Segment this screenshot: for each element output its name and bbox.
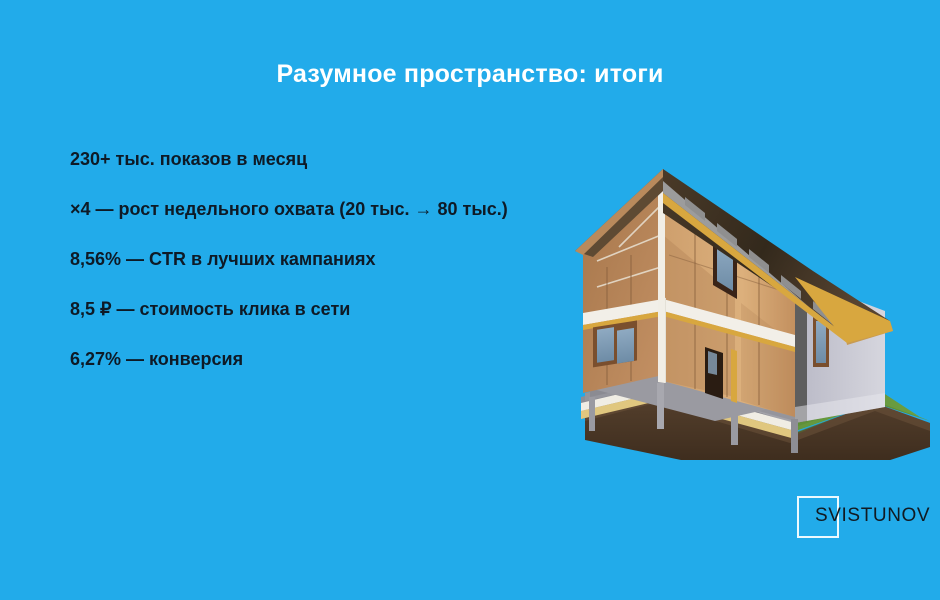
logo-text: SVISTUNOV (815, 505, 930, 527)
side-window-glass (816, 321, 826, 363)
front-left-window-glass-b (617, 328, 634, 364)
front-door-glass (708, 351, 717, 375)
stats-list: 230+ тыс. показов в месяц ×4 — рост неде… (70, 148, 590, 370)
stat-line-impressions: 230+ тыс. показов в месяц (70, 148, 590, 170)
house-illustration (545, 135, 940, 460)
brand-logo: SVISTUNOV (797, 496, 917, 542)
front-left-window-glass-a (597, 327, 614, 363)
stat-line-cpc: 8,5 ₽ — стоимость клика в сети (70, 298, 590, 320)
slide-root: Разумное пространство: итоги 230+ тыс. п… (0, 0, 940, 600)
stat-line-reach-growth: ×4 — рост недельного охвата (20 тыс. → 8… (70, 198, 590, 220)
stat-line-ctr: 8,56% — CTR в лучших кампаниях (70, 248, 590, 270)
house-render-svg (545, 135, 940, 460)
page-title: Разумное пространство: итоги (0, 60, 940, 89)
stat-line-conversion: 6,27% — конверсия (70, 348, 590, 370)
post-gold-a (731, 349, 737, 403)
